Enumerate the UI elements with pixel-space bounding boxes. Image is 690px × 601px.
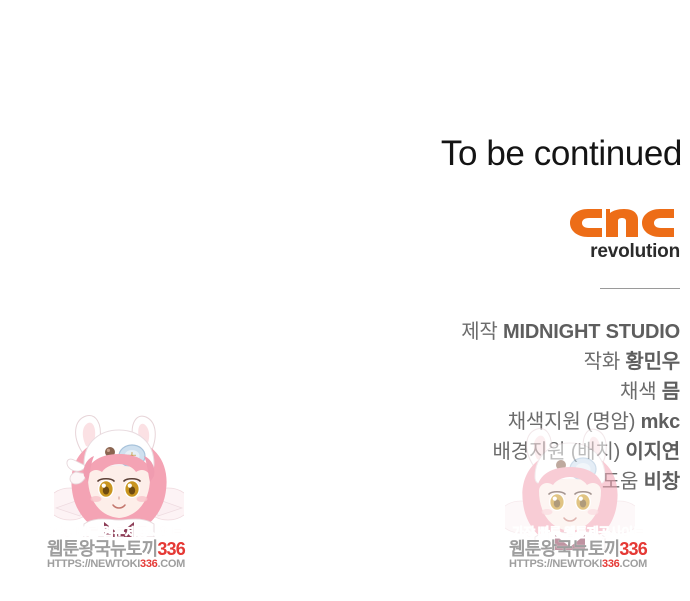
- character-illustration: 大: [54, 412, 184, 537]
- watermark-sitename: 웹툰왕국뉴토끼336: [38, 540, 194, 558]
- watermark-sitename-number: 336: [157, 539, 185, 559]
- watermark-sitename-text: 웹툰왕국뉴토끼: [47, 539, 157, 559]
- site-watermark-left: 가장 빠른 웹툰제공사이트 웹툰왕국뉴토끼336 HTTPS://NEWTOKI…: [38, 526, 194, 570]
- to-be-continued-text: To be continued: [441, 136, 682, 171]
- credit-name: MIDNIGHT STUDIO: [503, 321, 680, 343]
- credit-role: 제작: [461, 321, 497, 343]
- credit-role: 작화: [584, 351, 620, 373]
- watermark-url-text: HTTPS://NEWTOKI: [509, 558, 602, 570]
- watermark-url-text: HTTPS://NEWTOKI: [47, 558, 140, 570]
- watermark-sitename-number: 336: [619, 539, 647, 559]
- watermark-url: HTTPS://NEWTOKI336.COM: [38, 559, 194, 570]
- watermark-url-suffix: .COM: [620, 558, 648, 570]
- cnc-logo-icon: [568, 206, 680, 240]
- watermark-url: HTTPS://NEWTOKI336.COM: [500, 559, 656, 570]
- site-watermark-right: 가장 빠른 웹툰제공사이트 웹툰왕국뉴토끼336 HTTPS://NEWTOKI…: [500, 526, 656, 570]
- watermark-sitename: 웹툰왕국뉴토끼336: [500, 540, 656, 558]
- credit-name: 황민우: [625, 351, 680, 373]
- credit-name: 비창: [644, 471, 680, 493]
- watermark-url-suffix: .COM: [158, 558, 186, 570]
- credit-name: mkc: [641, 411, 680, 433]
- credit-name: 믐: [662, 381, 680, 403]
- watermark-tagline: 가장 빠른 웹툰제공사이트: [500, 526, 656, 539]
- watermark-url-number: 336: [140, 558, 157, 570]
- comic-end-page: To be continued revolution 제작 MIDNIGHT S…: [0, 0, 690, 601]
- studio-logo: revolution: [568, 206, 680, 262]
- section-divider: [600, 288, 680, 289]
- studio-logo-wordmark: revolution: [568, 242, 680, 262]
- credit-row: 작화 황민우: [260, 347, 680, 377]
- watermark-sitename-text: 웹툰왕국뉴토끼: [509, 539, 619, 559]
- credit-row: 제작 MIDNIGHT STUDIO: [260, 317, 680, 347]
- credit-row: 채색 믐: [260, 377, 680, 407]
- credit-role: 채색: [620, 381, 656, 403]
- watermark-url-number: 336: [602, 558, 619, 570]
- watermark-tagline: 가장 빠른 웹툰제공사이트: [38, 526, 194, 539]
